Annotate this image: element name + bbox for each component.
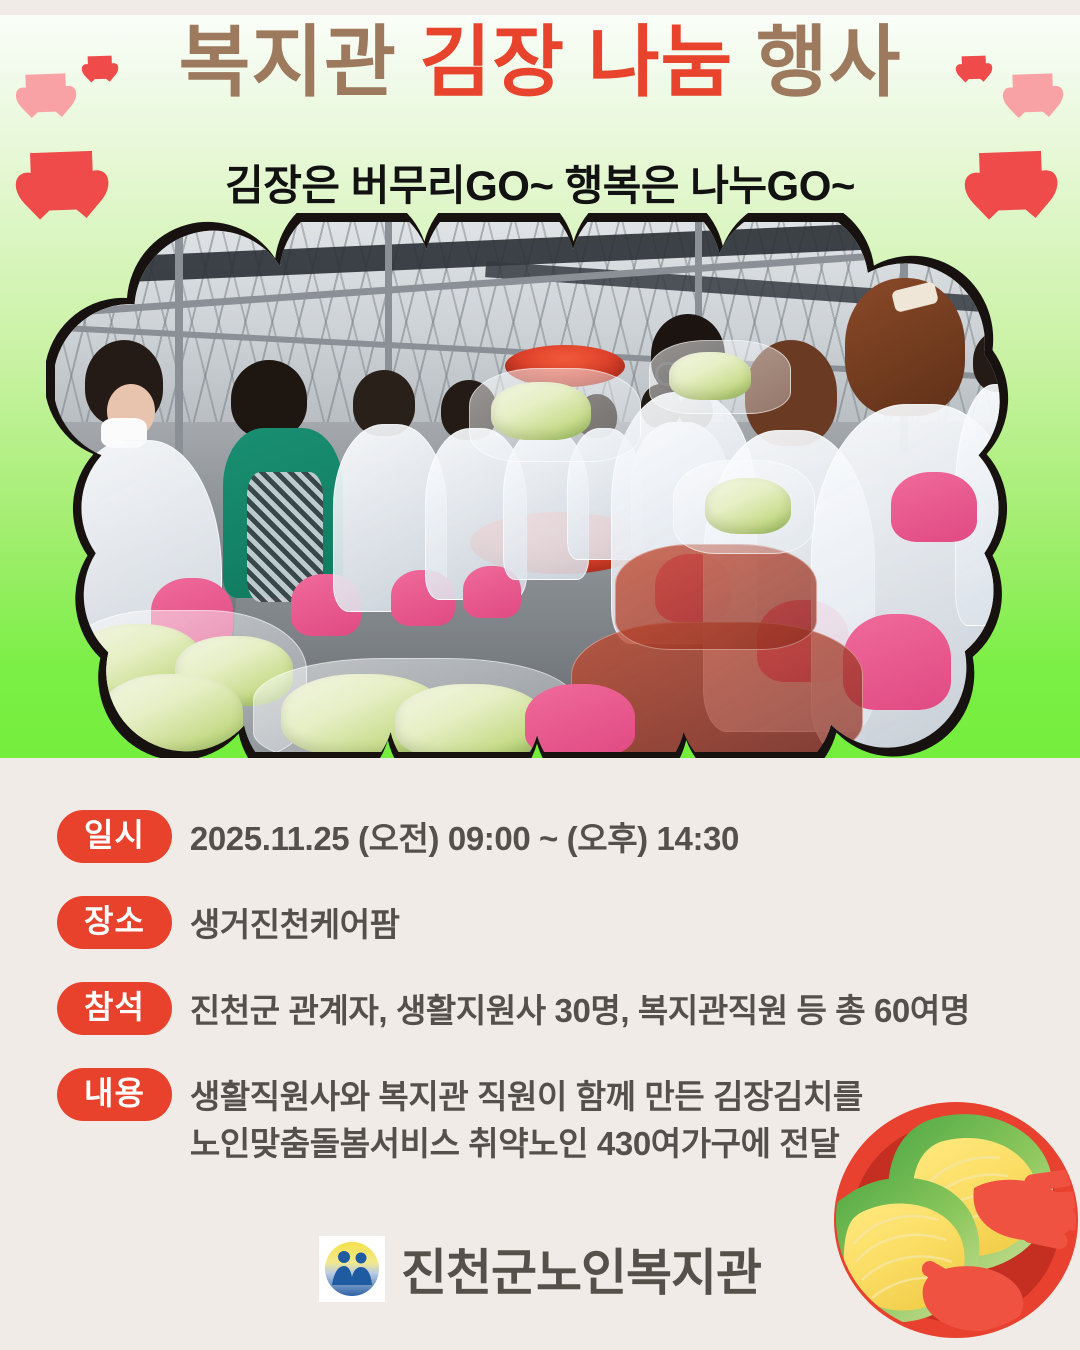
footer: 진천군노인복지관 [0,1224,1080,1314]
info-value-content: 생활직원사와 복지관 직원이 함께 만든 김장김치를 노인맞춤돌봄서비스 취약노… [190,1068,863,1168]
top-strip [0,0,1080,15]
title-part-3: 행사 [733,18,901,106]
info-row-content: 내용 생활직원사와 복지관 직원이 함께 만든 김장김치를 노인맞춤돌봄서비스 … [57,1068,863,1168]
info-value-place: 생거진천케어팜 [190,896,400,949]
title-part-1: 복지관 [179,18,420,106]
info-value-date: 2025.11.25 (오전) 09:00 ~ (오후) 14:30 [190,810,739,863]
info-row-date: 일시 2025.11.25 (오전) 09:00 ~ (오후) 14:30 [57,810,739,863]
hero-section: 복지관 김장 나눔 행사 김장은 버무리GO~ 행복은 나누GO~ [0,0,1080,758]
info-label-place: 장소 [57,896,172,949]
event-photo [55,222,1025,752]
info-label-content: 내용 [57,1068,172,1121]
title-part-2: 김장 나눔 [420,18,734,106]
info-row-attendees: 참석 진천군 관계자, 생활지원사 30명, 복지관직원 등 총 60여명 [57,982,970,1035]
organization-name: 진천군노인복지관 [401,1233,761,1305]
info-value-attendees: 진천군 관계자, 생활지원사 30명, 복지관직원 등 총 60여명 [190,982,970,1035]
info-row-place: 장소 생거진천케어팜 [57,896,400,949]
info-label-date: 일시 [57,810,172,863]
organization-logo [319,1236,385,1302]
photo-image [55,222,1025,752]
two-figures-sun-emblem-icon [322,1239,382,1299]
info-value-content-line2: 노인맞춤돌봄서비스 취약노인 430여가구에 전달 [190,1121,863,1168]
info-label-attendees: 참석 [57,982,172,1035]
page-title: 복지관 김장 나눔 행사 [0,22,1080,104]
info-value-content-line1: 생활직원사와 복지관 직원이 함께 만든 김장김치를 [190,1078,863,1115]
page-subtitle: 김장은 버무리GO~ 행복은 나누GO~ [0,152,1080,213]
